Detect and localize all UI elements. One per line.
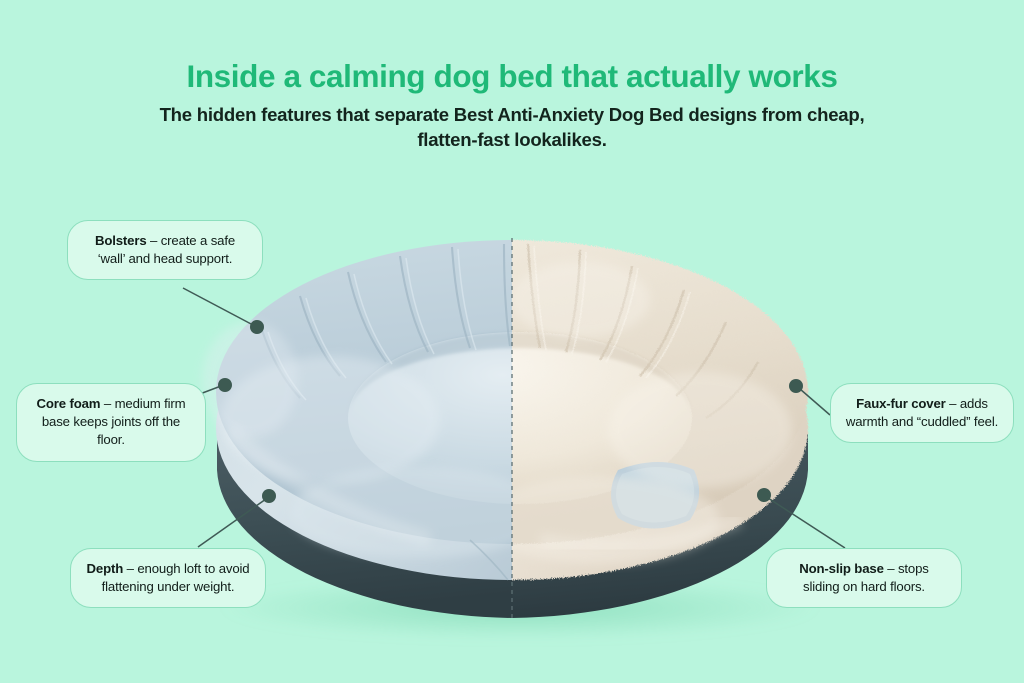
callout-faux-fur-cover[interactable]: Faux-fur cover – adds warmth and “cuddle… [830, 383, 1014, 443]
callout-term-faux-fur-cover: Faux-fur cover [856, 396, 946, 411]
callout-bolsters[interactable]: Bolsters – create a safe ‘wall’ and head… [67, 220, 263, 280]
callout-depth[interactable]: Depth – enough loft to avoid flattening … [70, 548, 266, 608]
callout-non-slip-base[interactable]: Non-slip base – stops sliding on hard fl… [766, 548, 962, 608]
callout-term-bolsters: Bolsters [95, 233, 147, 248]
infographic-canvas: Inside a calming dog bed that actually w… [0, 0, 1024, 683]
callout-term-depth: Depth [87, 561, 124, 576]
callout-term-non-slip-base: Non-slip base [799, 561, 884, 576]
callout-term-core-foam: Core foam [37, 396, 101, 411]
callout-core-foam[interactable]: Core foam – medium firm base keeps joint… [16, 383, 206, 462]
callout-desc-depth: – enough loft to avoid flattening under … [102, 561, 250, 594]
